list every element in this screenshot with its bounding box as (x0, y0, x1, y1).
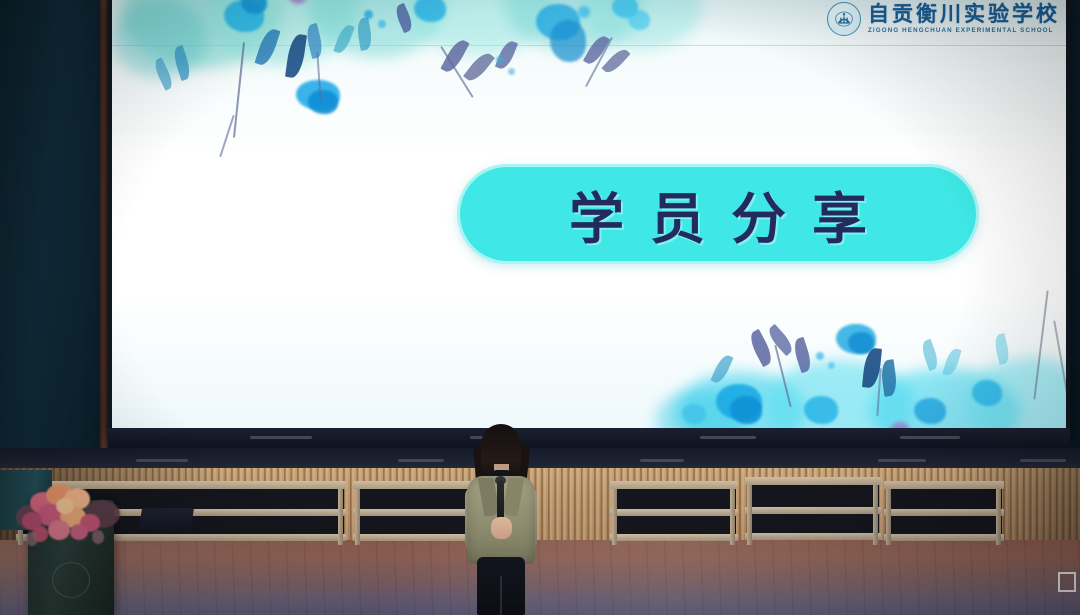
bezel-slot (250, 436, 312, 439)
slide-title-pill: 学员分享 (457, 164, 979, 264)
floral-decoration-bottom-right (656, 286, 1066, 428)
right-wall-panel (1070, 0, 1080, 470)
school-emblem-icon (827, 2, 861, 36)
bezel-slot (700, 436, 756, 439)
slide-title: 学员分享 (543, 174, 893, 254)
band-slot (136, 459, 188, 462)
floral-bouquet (12, 478, 122, 550)
microphone-icon (497, 480, 504, 522)
bezel-slot (900, 436, 960, 439)
school-logo-block: 自贡衡川实验学校 ZIGONG HENGCHUAN EXPERIMENTAL S… (827, 2, 1060, 36)
slide-header-divider (112, 45, 1066, 46)
left-wall-panel (0, 0, 104, 470)
trouser-leg-split (500, 576, 502, 615)
school-name-group: 自贡衡川实验学校 ZIGONG HENGCHUAN EXPERIMENTAL S… (868, 4, 1060, 34)
school-name-en: ZIGONG HENGCHUAN EXPERIMENTAL SCHOOL (868, 28, 1060, 34)
band-slot (640, 459, 684, 462)
presenter-hands (491, 517, 512, 539)
school-name-cn: 自贡衡川实验学校 (868, 4, 1060, 25)
table-row (745, 477, 881, 545)
band-slot (878, 459, 926, 462)
table-row (884, 481, 1004, 545)
lectern-emblem-icon (52, 562, 90, 598)
band-slot (1020, 459, 1066, 462)
presenter (455, 424, 547, 615)
edge-marker (1058, 572, 1076, 592)
auditorium-scene: 自贡衡川实验学校 ZIGONG HENGCHUAN EXPERIMENTAL S… (0, 0, 1080, 615)
table-row (610, 481, 738, 545)
stage-monitor-speaker (138, 508, 194, 534)
band-slot (398, 459, 444, 462)
projection-screen: 自贡衡川实验学校 ZIGONG HENGCHUAN EXPERIMENTAL S… (112, 0, 1066, 428)
